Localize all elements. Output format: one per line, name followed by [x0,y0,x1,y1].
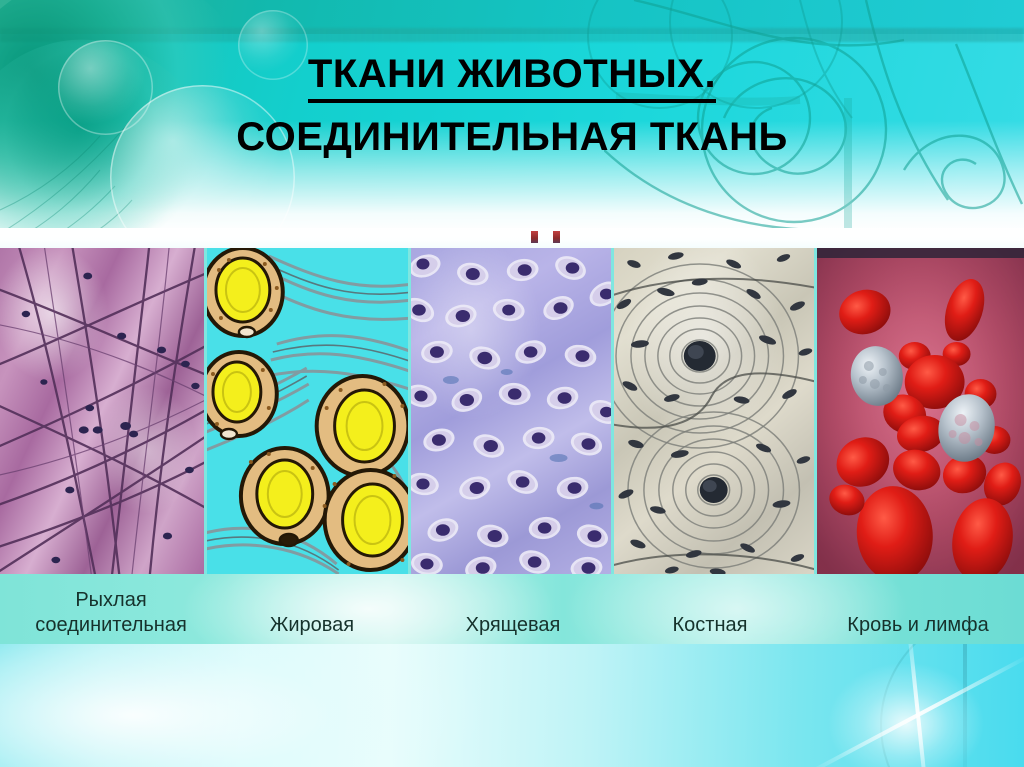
page-title-line-2: СОЕДИНИТЕЛЬНАЯ ТКАНЬ [0,111,1024,163]
bone-osteons-overlay [614,248,813,574]
loose-connective-fibers-overlay [0,248,204,574]
bottom-decorative-band [0,644,1024,767]
tissue-label-band: Рыхлая соединительная Жировая Хрящевая К… [0,574,1024,644]
page-title: ТКАНИ ЖИВОТНЫХ. СОЕДИНИТЕЛЬНАЯ ТКАНЬ [0,50,1024,163]
tissue-image-strip [0,248,1024,574]
artifact-tick [531,231,538,243]
tissue-label-blood: Кровь и лимфа [812,613,1024,638]
tissue-label-loose-connective: Рыхлая соединительная [0,588,222,638]
sparkle-flare-decoration [768,644,1024,767]
artifact-tick-marks [531,231,571,247]
tissue-panel-blood [817,248,1024,581]
tissue-label-cartilage: Хрящевая [418,613,608,638]
tissue-label-line-1: Рыхлая [0,588,222,613]
blood-cells-overlay [817,248,1024,581]
artifact-tick [553,231,560,243]
tissue-panel-adipose [207,248,407,574]
tissue-label-bone: Костная [620,613,800,638]
tissue-label-adipose: Жировая [222,613,402,638]
tissue-panel-loose-connective [0,248,204,574]
page-title-line-1: ТКАНИ ЖИВОТНЫХ. [308,50,716,103]
tissue-panel-cartilage [411,248,611,574]
slide-canvas: ТКАНИ ЖИВОТНЫХ. СОЕДИНИТЕЛЬНАЯ ТКАНЬ [0,0,1024,767]
band-white-separator [0,228,1024,248]
tissue-label-line-2: соединительная [0,613,222,638]
cartilage-lacunae-overlay [411,248,611,574]
adipose-cells-overlay [207,248,407,574]
tissue-panel-bone [614,248,813,574]
